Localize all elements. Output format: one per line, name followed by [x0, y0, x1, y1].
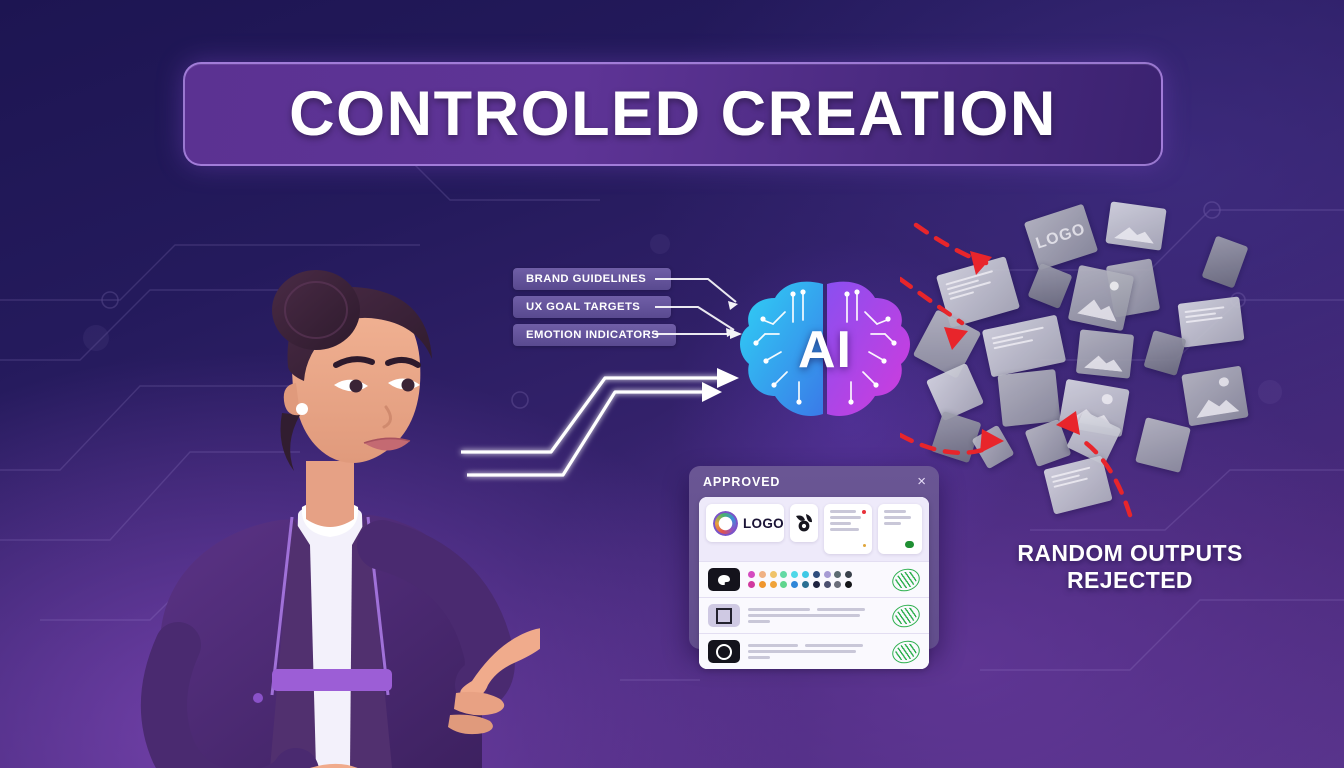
panel-title: APPROVED: [703, 475, 780, 489]
logo-card[interactable]: LOGO: [706, 504, 784, 542]
list-card-a[interactable]: [824, 504, 873, 554]
rejected-line-2: REJECTED: [1005, 567, 1255, 594]
panel-header: APPROVED ×: [689, 466, 939, 497]
swatch-row-bottom: [748, 581, 884, 588]
page-title: CONTROLED CREATION: [289, 78, 1057, 150]
circle-icon: [708, 640, 740, 663]
brand-mark-icon: [793, 512, 815, 534]
panel-body: LOGO: [699, 497, 929, 669]
chip-label: UX GOAL TARGETS: [526, 301, 640, 313]
table-row[interactable]: [699, 633, 929, 669]
status-dot-red: [862, 510, 866, 514]
approved-panel[interactable]: APPROVED × LOGO: [689, 466, 939, 649]
status-dot-amber: [863, 544, 866, 547]
page-title-bar: CONTROLED CREATION: [183, 62, 1163, 166]
table-row[interactable]: [699, 597, 929, 633]
close-icon[interactable]: ×: [917, 474, 926, 489]
square-icon: [708, 604, 740, 627]
approved-stamp: [889, 637, 922, 666]
rejected-caption: RANDOM OUTPUTS REJECTED: [1005, 540, 1255, 594]
swatch-row-top: [748, 571, 884, 578]
chip-label: EMOTION INDICATORS: [526, 329, 659, 341]
palette-icon: [708, 568, 740, 591]
approved-stamp: [889, 601, 922, 630]
presenter-woman: [120, 215, 540, 768]
panel-top-row: LOGO: [699, 497, 929, 561]
color-swatch-grid[interactable]: [748, 571, 884, 589]
list-card-b[interactable]: [878, 504, 922, 554]
ai-brain: AI: [735, 276, 915, 424]
brand-mark-card[interactable]: [790, 504, 818, 542]
poster-canvas: CONTROLED CREATION BRAND GUIDELINES UX G…: [0, 0, 1344, 768]
row-skeleton-text: [748, 644, 884, 659]
row-skeleton-text: [748, 608, 884, 623]
logo-label: LOGO: [743, 516, 784, 531]
chip-label: BRAND GUIDELINES: [526, 273, 646, 285]
reject-arrows: [900, 195, 1300, 525]
approved-stamp: [889, 565, 922, 594]
rejected-line-1: RANDOM OUTPUTS: [1005, 540, 1255, 567]
table-row[interactable]: [699, 561, 929, 597]
brain-label: AI: [735, 276, 915, 424]
status-pill-green: [905, 541, 914, 548]
search-lens-icon: [713, 511, 738, 536]
